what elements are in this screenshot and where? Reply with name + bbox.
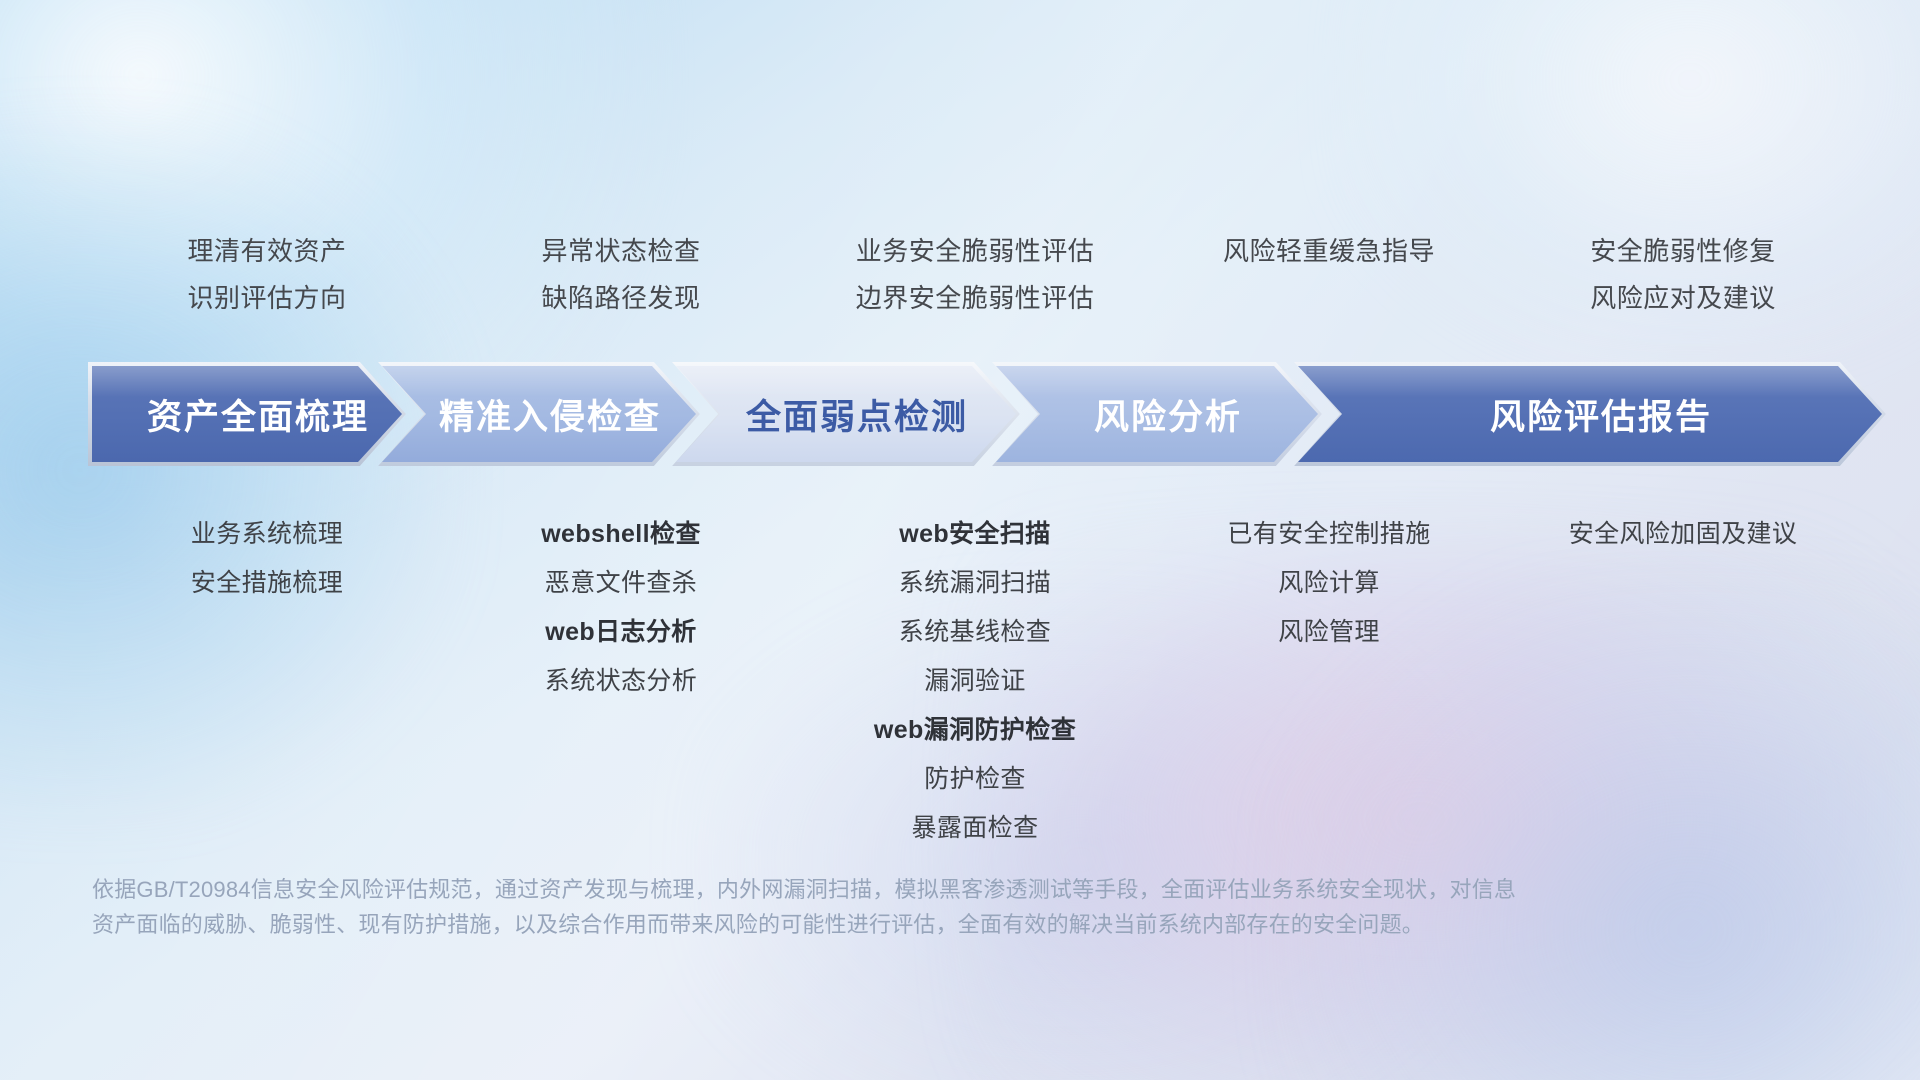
top-note-text: 风险应对及建议 [1506, 275, 1860, 322]
list-item: 安全风险加固及建议 [1506, 510, 1860, 559]
list-item: web日志分析 [444, 608, 798, 657]
top-note-text: 风险轻重缓急指导 [1152, 228, 1506, 275]
top-note-text: 异常状态检查 [444, 228, 798, 275]
list-item: 系统状态分析 [444, 657, 798, 706]
list-item: 暴露面检查 [798, 804, 1152, 853]
list-item: 漏洞验证 [798, 657, 1152, 706]
chevron-stage-asset-inventory[interactable]: 资产全面梳理 [88, 362, 406, 466]
stage-details-asset-inventory: 业务系统梳理 安全措施梳理 [90, 510, 444, 608]
chevron-stage-weakness-detection[interactable]: 全面弱点检测 [672, 362, 1020, 466]
top-notes-intrusion-check: 异常状态检查 缺陷路径发现 [444, 228, 798, 322]
stage-details-weakness-detection: web安全扫描 系统漏洞扫描 系统基线检查 漏洞验证 web漏洞防护检查 防护检… [798, 510, 1152, 853]
stage-details-intrusion-check: webshell检查 恶意文件查杀 web日志分析 系统状态分析 [444, 510, 798, 706]
list-item: 恶意文件查杀 [444, 559, 798, 608]
top-note-text: 识别评估方向 [90, 275, 444, 322]
top-note-text: 安全脆弱性修复 [1506, 228, 1860, 275]
stage-details-risk-report: 安全风险加固及建议 [1506, 510, 1860, 559]
top-note-text: 业务安全脆弱性评估 [798, 228, 1152, 275]
process-diagram: 理清有效资产 识别评估方向 异常状态检查 缺陷路径发现 业务安全脆弱性评估 边界… [0, 0, 1920, 1080]
list-item: 风险管理 [1152, 608, 1506, 657]
footer-description: 依据GB/T20984信息安全风险评估规范，通过资产发现与梳理，内外网漏洞扫描，… [92, 872, 1652, 942]
chevron-label: 风险分析 [1072, 389, 1242, 440]
list-item: webshell检查 [444, 510, 798, 559]
list-item: 防护检查 [798, 755, 1152, 804]
list-item: 系统漏洞扫描 [798, 559, 1152, 608]
process-chevron-band: 资产全面梳理 精准入侵检查 全面弱点检测 风险分析 风险评估报告 [88, 362, 1858, 466]
top-notes-row: 理清有效资产 识别评估方向 异常状态检查 缺陷路径发现 业务安全脆弱性评估 边界… [90, 228, 1860, 322]
top-notes-risk-analysis: 风险轻重缓急指导 [1152, 228, 1506, 322]
list-item: web安全扫描 [798, 510, 1152, 559]
chevron-stage-risk-report[interactable]: 风险评估报告 [1294, 362, 1886, 466]
chevron-stage-risk-analysis[interactable]: 风险分析 [992, 362, 1322, 466]
list-item: 已有安全控制措施 [1152, 510, 1506, 559]
chevron-label: 全面弱点检测 [724, 389, 968, 440]
list-item: web漏洞防护检查 [798, 706, 1152, 755]
top-note-text: 缺陷路径发现 [444, 275, 798, 322]
chevron-label: 风险评估报告 [1468, 389, 1712, 440]
top-note-text: 边界安全脆弱性评估 [798, 275, 1152, 322]
top-notes-asset-inventory: 理清有效资产 识别评估方向 [90, 228, 444, 322]
list-item: 业务系统梳理 [90, 510, 444, 559]
top-note-text: 理清有效资产 [90, 228, 444, 275]
chevron-label: 精准入侵检查 [417, 389, 661, 440]
stage-details-row: 业务系统梳理 安全措施梳理 webshell检查 恶意文件查杀 web日志分析 … [90, 510, 1860, 853]
footer-line: 依据GB/T20984信息安全风险评估规范，通过资产发现与梳理，内外网漏洞扫描，… [92, 872, 1652, 907]
list-item: 系统基线检查 [798, 608, 1152, 657]
list-item: 安全措施梳理 [90, 559, 444, 608]
stage-details-risk-analysis: 已有安全控制措施 风险计算 风险管理 [1152, 510, 1506, 657]
chevron-label: 资产全面梳理 [125, 389, 369, 440]
list-item: 风险计算 [1152, 559, 1506, 608]
top-notes-risk-report: 安全脆弱性修复 风险应对及建议 [1506, 228, 1860, 322]
top-notes-weakness-detection: 业务安全脆弱性评估 边界安全脆弱性评估 [798, 228, 1152, 322]
footer-line: 资产面临的威胁、脆弱性、现有防护措施，以及综合作用而带来风险的可能性进行评估，全… [92, 907, 1652, 942]
chevron-stage-intrusion-check[interactable]: 精准入侵检查 [378, 362, 700, 466]
